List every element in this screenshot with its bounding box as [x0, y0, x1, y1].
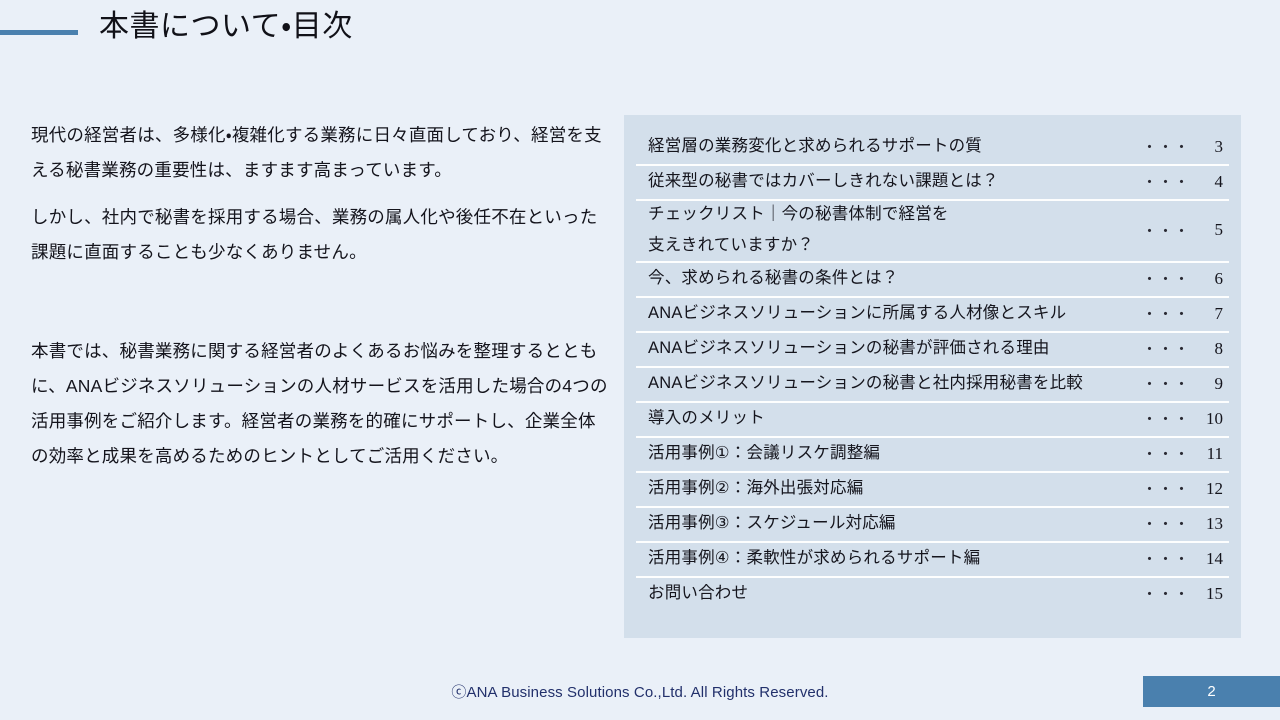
toc-item-tail: ・・・12	[1142, 478, 1223, 499]
toc-row[interactable]: お問い合わせ・・・15	[624, 576, 1241, 611]
toc-row[interactable]: チェックリスト｜今の秘書体制で経営を 支えきれていますか？・・・5	[624, 199, 1241, 261]
page-number-badge: 2	[1143, 676, 1280, 707]
toc-item-tail: ・・・9	[1142, 373, 1223, 394]
toc-item-tail: ・・・6	[1142, 268, 1223, 289]
toc-item-label: ANAビジネスソリューションの秘書が評価される理由	[648, 333, 1142, 364]
toc-item-tail: ・・・11	[1142, 443, 1223, 464]
page-title: 本書について・目次	[99, 6, 353, 48]
toc-row[interactable]: 活用事例④：柔軟性が求められるサポート編・・・14	[624, 541, 1241, 576]
toc-leader-dots: ・・・	[1142, 220, 1190, 241]
table-of-contents-panel: 経営層の業務変化と求められるサポートの質・・・3従来型の秘書ではカバーしきれない…	[624, 115, 1241, 638]
toc-row[interactable]: 従来型の秘書ではカバーしきれない課題とは？・・・4	[624, 164, 1241, 199]
toc-item-label: ANAビジネスソリューションの秘書と社内採用秘書を比較	[648, 368, 1142, 399]
toc-leader-dots: ・・・	[1142, 373, 1190, 394]
toc-item-tail: ・・・4	[1142, 171, 1223, 192]
toc-item-page-number: 15	[1199, 584, 1223, 604]
toc-item-tail: ・・・8	[1142, 338, 1223, 359]
toc-leader-dots: ・・・	[1142, 268, 1190, 289]
intro-paragraph-1: 現代の経営者は、多様化・複雑化する業務に日々直面しており、経営を支える秘書業務の…	[31, 118, 611, 188]
toc-leader-dots: ・・・	[1142, 136, 1190, 157]
toc-item-page-number: 10	[1199, 409, 1223, 429]
toc-item-page-number: 5	[1199, 220, 1223, 240]
intro-column: 現代の経営者は、多様化・複雑化する業務に日々直面しており、経営を支える秘書業務の…	[31, 118, 611, 474]
toc-item-page-number: 3	[1199, 137, 1223, 157]
toc-item-tail: ・・・5	[1142, 220, 1223, 241]
toc-item-page-number: 4	[1199, 172, 1223, 192]
slide-footer: ⓒANA Business Solutions Co.,Ltd. All Rig…	[0, 666, 1280, 720]
intro-paragraph-3: 本書では、秘書業務に関する経営者のよくあるお悩みを整理するとともに、ANAビジネ…	[31, 334, 611, 474]
toc-item-label: 活用事例②：海外出張対応編	[648, 473, 1142, 504]
toc-item-tail: ・・・14	[1142, 548, 1223, 569]
toc-item-tail: ・・・3	[1142, 136, 1223, 157]
toc-item-label: 今、求められる秘書の条件とは？	[648, 263, 1142, 294]
toc-leader-dots: ・・・	[1142, 548, 1190, 569]
toc-item-label: ANAビジネスソリューションに所属する人材像とスキル	[648, 298, 1142, 329]
slide-header: 本書について・目次	[0, 0, 1280, 62]
toc-item-page-number: 6	[1199, 269, 1223, 289]
toc-leader-dots: ・・・	[1142, 303, 1190, 324]
toc-item-label: 経営層の業務変化と求められるサポートの質	[648, 131, 1142, 162]
toc-item-page-number: 13	[1199, 514, 1223, 534]
toc-row[interactable]: 活用事例③：スケジュール対応編・・・13	[624, 506, 1241, 541]
intro-paragraph-2: しかし、社内で秘書を採用する場合、業務の属人化や後任不在といった課題に直面するこ…	[31, 200, 611, 270]
toc-row[interactable]: 経営層の業務変化と求められるサポートの質・・・3	[624, 129, 1241, 164]
toc-row[interactable]: ANAビジネスソリューションの秘書が評価される理由・・・8	[624, 331, 1241, 366]
toc-row[interactable]: 活用事例①：会議リスケ調整編・・・11	[624, 436, 1241, 471]
toc-row[interactable]: 今、求められる秘書の条件とは？・・・6	[624, 261, 1241, 296]
toc-leader-dots: ・・・	[1142, 338, 1190, 359]
toc-item-label: 活用事例③：スケジュール対応編	[648, 508, 1142, 539]
toc-item-page-number: 8	[1199, 339, 1223, 359]
toc-leader-dots: ・・・	[1142, 443, 1190, 464]
toc-item-label: 活用事例①：会議リスケ調整編	[648, 438, 1142, 469]
toc-row[interactable]: ANAビジネスソリューションの秘書と社内採用秘書を比較・・・9	[624, 366, 1241, 401]
toc-item-page-number: 12	[1199, 479, 1223, 499]
toc-leader-dots: ・・・	[1142, 583, 1190, 604]
toc-leader-dots: ・・・	[1142, 408, 1190, 429]
toc-item-page-number: 14	[1199, 549, 1223, 569]
toc-leader-dots: ・・・	[1142, 171, 1190, 192]
toc-row[interactable]: ANAビジネスソリューションに所属する人材像とスキル・・・7	[624, 296, 1241, 331]
toc-row[interactable]: 導入のメリット・・・10	[624, 401, 1241, 436]
toc-item-label: 導入のメリット	[648, 403, 1142, 434]
title-accent-rule	[0, 30, 78, 35]
toc-item-page-number: 9	[1199, 374, 1223, 394]
toc-item-label: チェックリスト｜今の秘書体制で経営を 支えきれていますか？	[648, 199, 1142, 261]
copyright-text: ⓒANA Business Solutions Co.,Ltd. All Rig…	[0, 681, 1280, 702]
toc-item-label: 従来型の秘書ではカバーしきれない課題とは？	[648, 166, 1142, 197]
toc-item-label: お問い合わせ	[648, 578, 1142, 609]
toc-item-tail: ・・・15	[1142, 583, 1223, 604]
toc-item-tail: ・・・13	[1142, 513, 1223, 534]
toc-item-label: 活用事例④：柔軟性が求められるサポート編	[648, 543, 1142, 574]
toc-item-tail: ・・・10	[1142, 408, 1223, 429]
toc-item-tail: ・・・7	[1142, 303, 1223, 324]
toc-leader-dots: ・・・	[1142, 478, 1190, 499]
toc-leader-dots: ・・・	[1142, 513, 1190, 534]
toc-row[interactable]: 活用事例②：海外出張対応編・・・12	[624, 471, 1241, 506]
toc-item-page-number: 7	[1199, 304, 1223, 324]
toc-item-page-number: 11	[1199, 444, 1223, 464]
